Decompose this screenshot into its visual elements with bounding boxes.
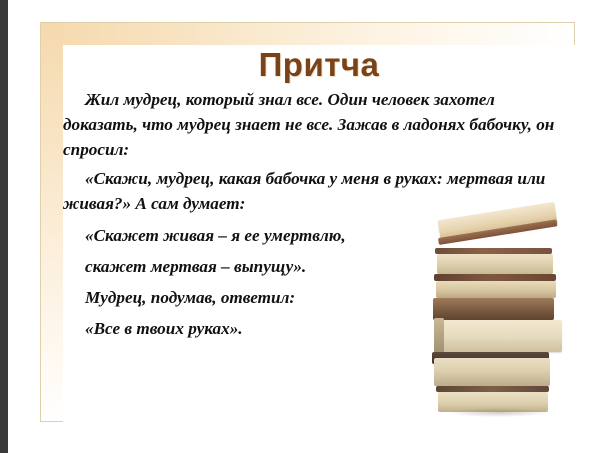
book-5-pages (438, 320, 562, 352)
book-2-pages (437, 254, 553, 274)
decorative-band-left (40, 22, 63, 422)
book-6-pages (434, 358, 550, 386)
book-5-cover (434, 318, 444, 354)
decorative-band-top (40, 22, 575, 45)
book-3-pages (436, 281, 556, 298)
paragraph: Жил мудрец, который знал все. Один челов… (63, 87, 563, 162)
book-stack-shadow (447, 408, 549, 417)
book-4-cover (433, 298, 554, 320)
page-title: Притча (63, 45, 575, 85)
stack-of-old-books-image (425, 218, 563, 414)
book-3-cover (434, 274, 556, 281)
left-gutter-strip (0, 0, 8, 453)
paragraph: «Скажи, мудрец, какая бабочка у меня в р… (63, 166, 563, 216)
slide: Притча Жил мудрец, который знал все. Оди… (0, 0, 604, 453)
